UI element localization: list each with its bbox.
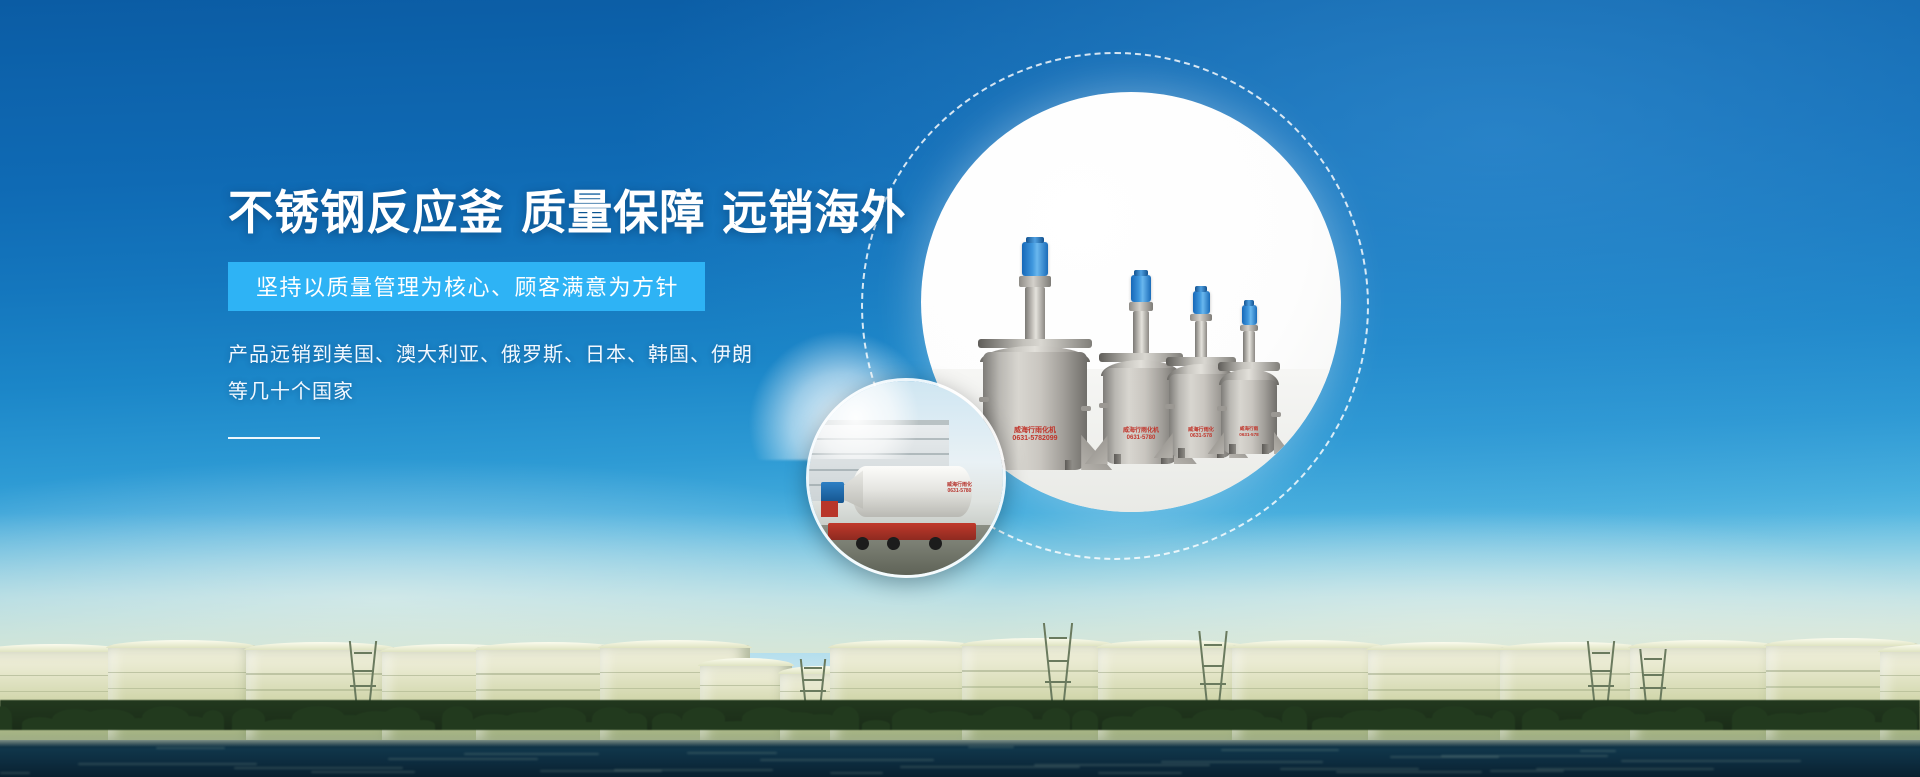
transmission-pylon bbox=[1588, 641, 1614, 701]
tree-cluster bbox=[832, 706, 859, 730]
tree-cluster bbox=[1882, 707, 1917, 730]
tree-cluster bbox=[1252, 717, 1282, 730]
reactor-leg bbox=[1178, 448, 1185, 458]
tree-cluster bbox=[442, 706, 473, 730]
inset-wheel bbox=[887, 537, 900, 550]
tree-cluster bbox=[622, 713, 647, 730]
tree-cluster bbox=[1282, 706, 1307, 730]
tree-cluster bbox=[0, 706, 12, 730]
tree-cluster bbox=[1462, 715, 1494, 730]
reactor-support-column bbox=[1195, 321, 1208, 361]
reactor-vessel bbox=[1221, 380, 1277, 454]
reactor-brand-label: 威海行雨0631-578 bbox=[1221, 426, 1277, 437]
transmission-pylon bbox=[350, 641, 376, 701]
water-reflection bbox=[1621, 760, 1800, 762]
inset-brand-label: 威海行雨化 0631-5780 bbox=[947, 482, 972, 494]
transmission-pylon bbox=[800, 659, 826, 701]
inset-red-box bbox=[821, 501, 838, 517]
water-reflection bbox=[760, 759, 934, 761]
reactor-nozzle bbox=[1099, 403, 1109, 408]
water-reflection bbox=[1221, 749, 1339, 751]
transmission-pylon bbox=[1200, 631, 1226, 701]
water-reflection bbox=[464, 753, 599, 755]
reactor-leg bbox=[1065, 460, 1072, 470]
water-reflection bbox=[311, 771, 415, 773]
tree-line bbox=[0, 700, 1920, 730]
reactor-gearbox bbox=[1129, 302, 1154, 311]
water-reflection bbox=[900, 766, 1080, 768]
reactor-leg bbox=[1262, 444, 1269, 454]
water-reflection bbox=[1098, 772, 1182, 774]
tree-cluster bbox=[1492, 710, 1515, 730]
tree-cluster bbox=[202, 710, 224, 730]
water-reflection bbox=[968, 746, 1014, 748]
water-reflection bbox=[1490, 770, 1564, 772]
water-reflection bbox=[1280, 768, 1419, 770]
reactor-motor bbox=[1131, 275, 1151, 302]
water-reflection bbox=[1336, 771, 1482, 773]
water-reflection bbox=[1580, 750, 1616, 752]
reactor-support-column bbox=[1025, 287, 1046, 343]
tree-cluster bbox=[1042, 708, 1070, 730]
water-reflection bbox=[1441, 755, 1607, 757]
transmission-pylon bbox=[1045, 623, 1071, 701]
water-reflection bbox=[78, 763, 257, 765]
reactor-leg bbox=[1114, 454, 1121, 464]
reactor-motor bbox=[1022, 242, 1048, 276]
tree-cluster bbox=[1072, 710, 1098, 730]
water-reflection bbox=[0, 772, 30, 774]
reactor-nozzle bbox=[1165, 404, 1175, 409]
water-reflection bbox=[614, 769, 773, 771]
transmission-pylon bbox=[1640, 649, 1666, 701]
hero-banner: 威海行雨化机0631-5782099威海行雨化机0631-5780威海行雨化06… bbox=[0, 0, 1920, 777]
reactor-nozzle bbox=[1081, 406, 1091, 411]
tree-cluster bbox=[232, 708, 265, 730]
tree-cluster bbox=[862, 720, 890, 730]
inset-blue-motor bbox=[821, 482, 844, 503]
water-reflection bbox=[388, 758, 538, 760]
inset-wheel bbox=[856, 537, 869, 550]
banner-subtitle-text: 坚持以质量管理为核心、顾客满意为方针 bbox=[256, 275, 679, 300]
reactor-nozzle bbox=[1271, 412, 1281, 417]
reactor-nozzle bbox=[1217, 406, 1227, 411]
inset-trailer bbox=[828, 523, 975, 540]
water-reflection bbox=[1034, 764, 1210, 766]
water-reflection bbox=[234, 767, 403, 769]
tree-cluster bbox=[1672, 707, 1705, 730]
water-reflection bbox=[830, 772, 882, 774]
paragraph-line-2: 等几十个国家 bbox=[228, 374, 768, 411]
tree-cluster bbox=[1702, 721, 1723, 730]
water-reflection bbox=[687, 752, 777, 754]
waterfront bbox=[0, 740, 1920, 777]
reactor-support-column bbox=[1243, 331, 1254, 366]
banner-copy: 不锈钢反应釜 质量保障 远销海外 坚持以质量管理为核心、顾客满意为方针 产品远销… bbox=[228, 190, 988, 439]
tree-cluster bbox=[652, 713, 682, 730]
banner-headline: 不锈钢反应釜 质量保障 远销海外 bbox=[228, 190, 958, 239]
water-reflection bbox=[156, 747, 224, 749]
reactor-leg bbox=[1229, 444, 1236, 454]
accent-rule bbox=[228, 437, 320, 439]
paragraph-line-1: 产品远销到美国、澳大利亚、俄罗斯、日本、韩国、伊朗 bbox=[228, 337, 768, 374]
reactor-motor bbox=[1193, 291, 1210, 314]
banner-subtitle-bar: 坚持以质量管理为核心、顾客满意为方针 bbox=[228, 262, 705, 311]
reactor-gearbox bbox=[1019, 276, 1051, 287]
reactor-support-column bbox=[1133, 311, 1148, 357]
banner-paragraph: 产品远销到美国、澳大利亚、俄罗斯、日本、韩国、伊朗 等几十个国家 bbox=[228, 337, 768, 411]
stainless-steel-reactor: 威海行雨化机0631-5780 bbox=[1103, 269, 1179, 464]
inset-wheel bbox=[929, 537, 942, 550]
reactor-gearbox bbox=[1190, 314, 1211, 321]
tree-cluster bbox=[412, 720, 435, 730]
stainless-steel-reactor: 威海行雨0631-578 bbox=[1221, 299, 1277, 454]
reactor-motor bbox=[1242, 305, 1257, 325]
